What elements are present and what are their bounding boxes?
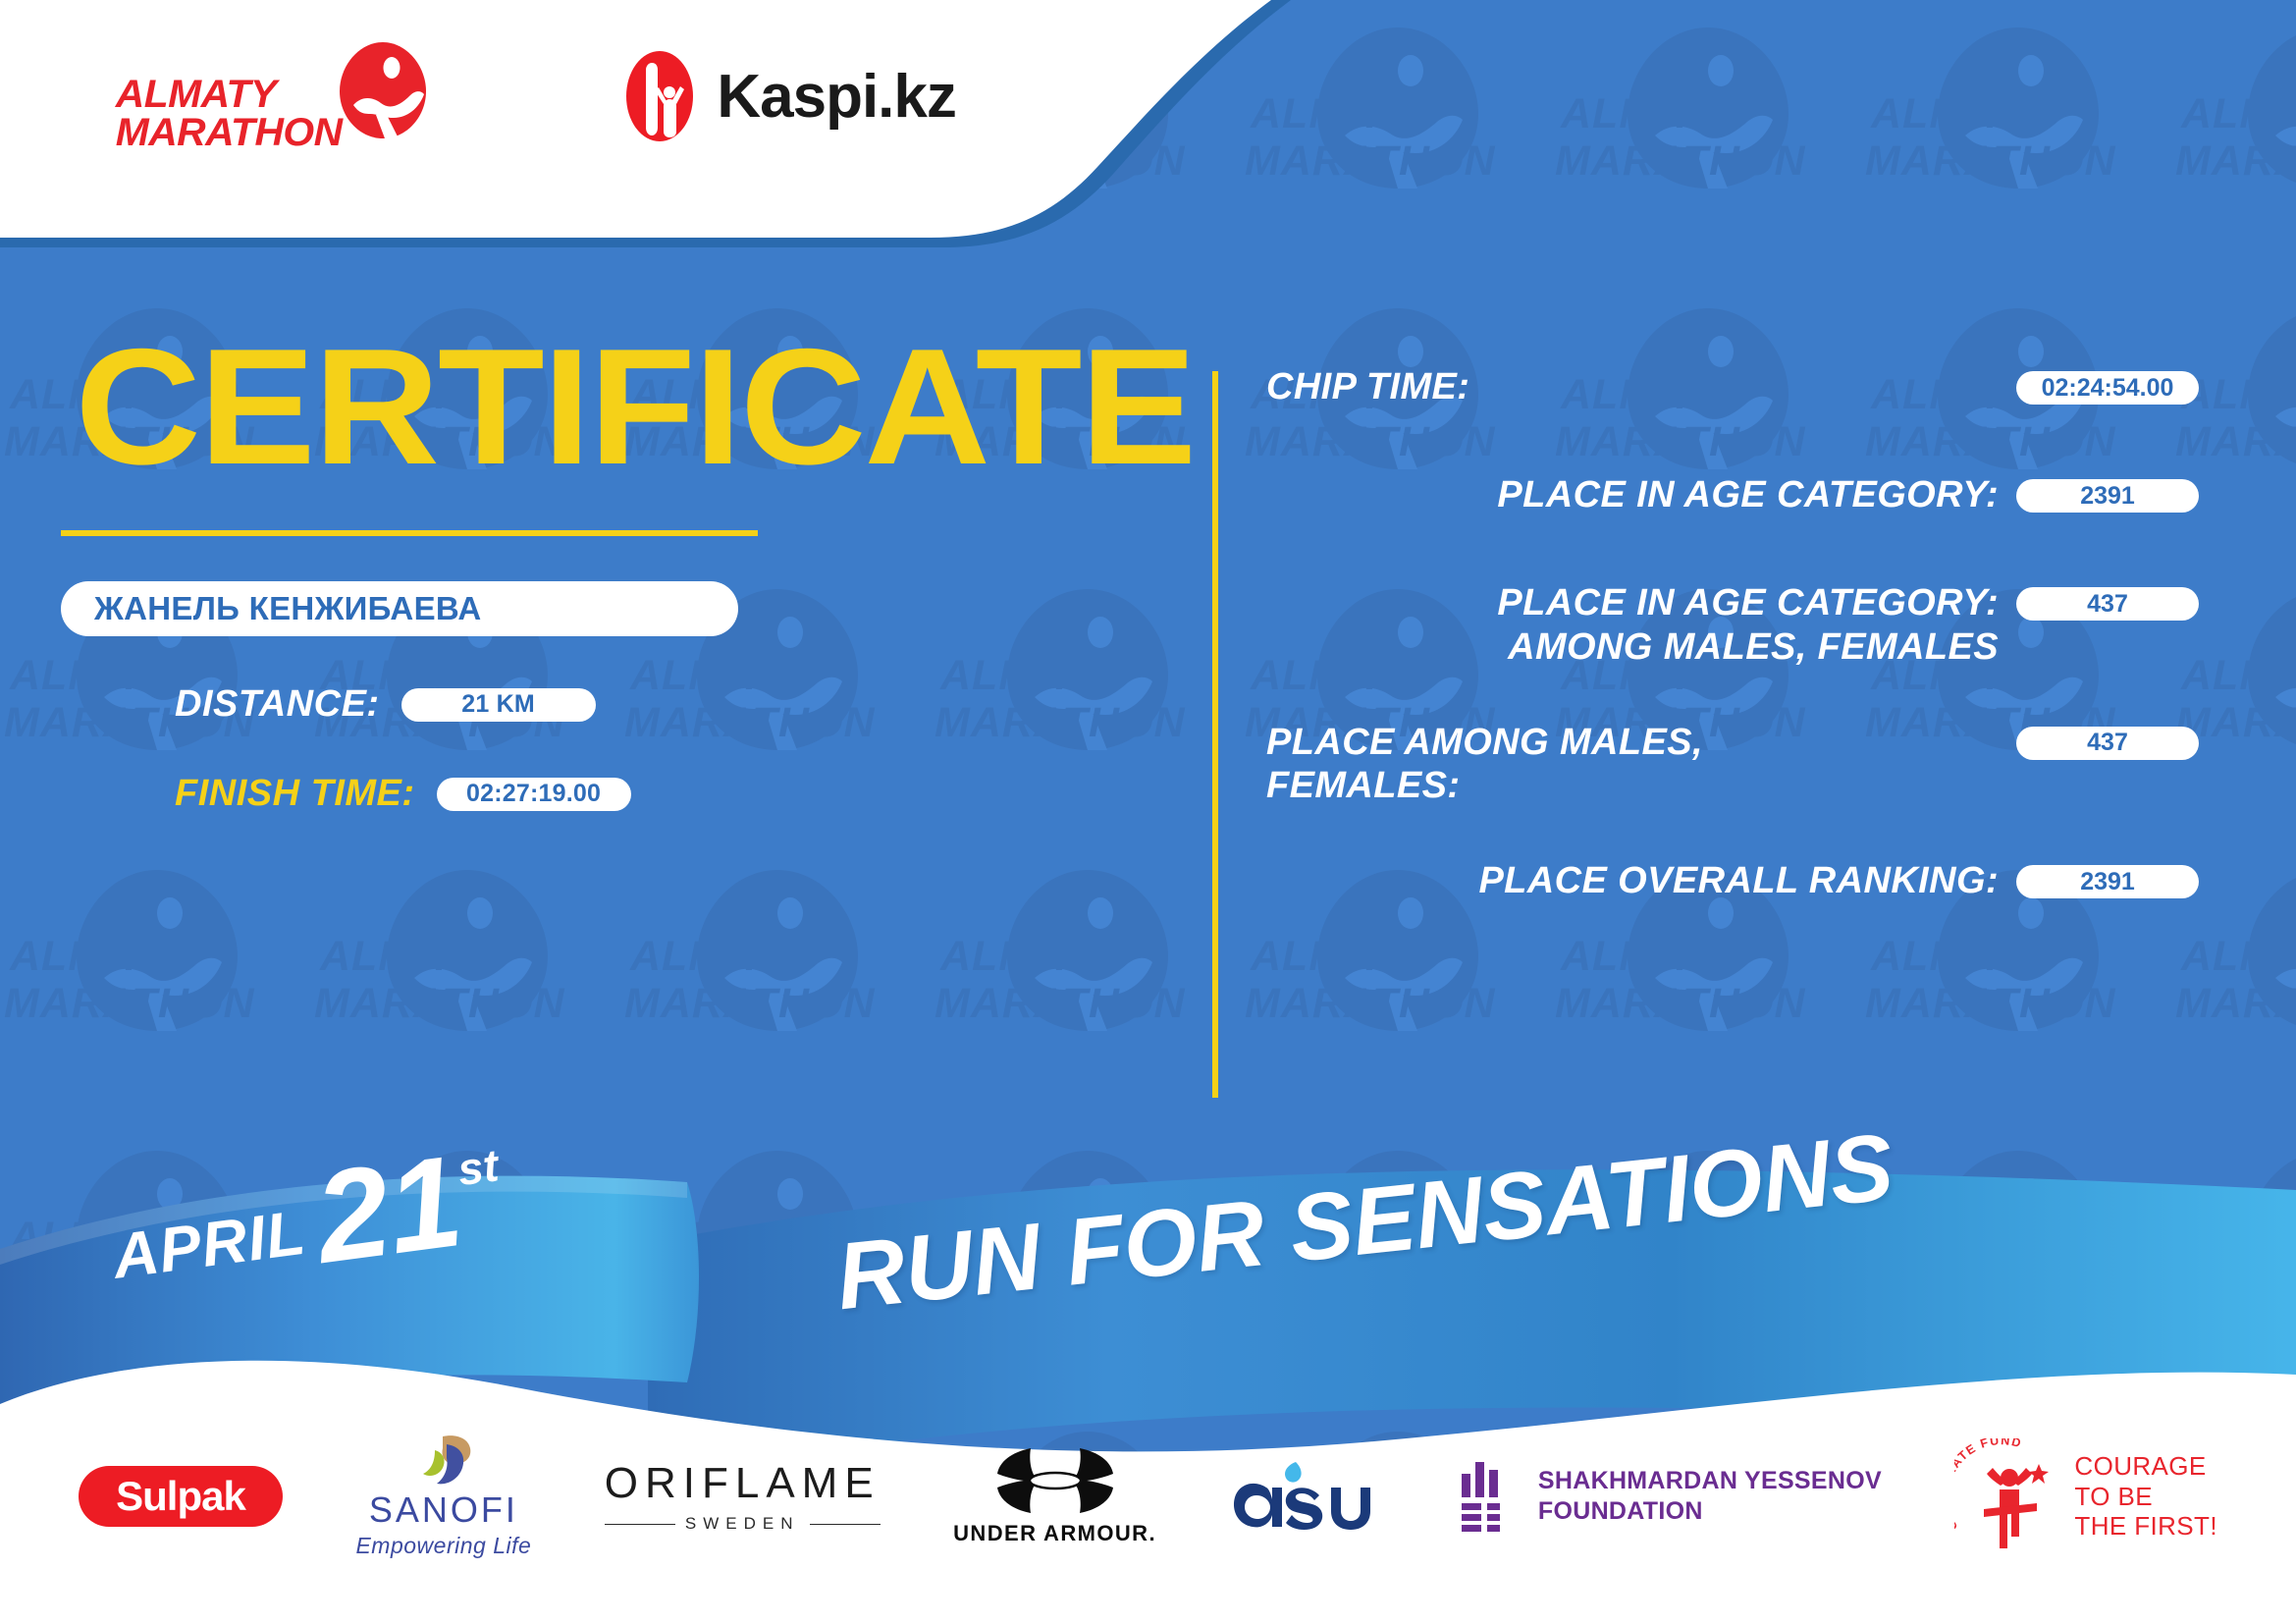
sanofi-bird-icon	[413, 1435, 474, 1488]
overall-ranking-value: 2391	[2080, 868, 2135, 896]
oriflame-subline: SWEDEN	[605, 1514, 881, 1534]
place-age-category-gender-label: PLACE IN AGE CATEGORY: AMONG MALES, FEMA…	[1266, 581, 2016, 670]
vertical-divider	[1212, 371, 1218, 1098]
place-among-gender-value-pill: 437	[2016, 727, 2199, 760]
stats-column: CHIP TIME: 02:24:54.00 PLACE IN AGE CATE…	[1266, 365, 2199, 916]
courage-runner-icon: CORPORATE FUND	[1954, 1438, 2060, 1554]
under-armour-wordmark: UNDER ARMOUR.	[953, 1521, 1156, 1546]
place-among-gender-value: 437	[2087, 729, 2128, 757]
distance-value: 21 KM	[461, 690, 535, 719]
sanofi-wordmark: SANOFI	[369, 1489, 518, 1531]
oriflame-rule-right	[810, 1524, 881, 1525]
page-title: CERTIFICATE	[0, 324, 1228, 489]
event-day: 21	[310, 1148, 467, 1272]
sponsor-oriflame: ORIFLAME SWEDEN	[605, 1459, 881, 1534]
yessenov-wordmark: SHAKHMARDAN YESSENOV FOUNDATION	[1538, 1466, 1882, 1528]
overall-ranking-value-pill: 2391	[2016, 865, 2199, 898]
label-line-1: PLACE AMONG MALES,	[1266, 721, 1999, 765]
finish-time-value: 02:27:19.00	[466, 780, 601, 808]
place-age-category-gender-value: 437	[2087, 590, 2128, 619]
sponsor-courage-to-be-first: CORPORATE FUND COURAGE TO BE THE FIRST!	[1954, 1438, 2217, 1554]
place-age-category-gender-value-pill: 437	[2016, 587, 2199, 621]
sponsor-bar: Sulpak SANOFI Empowering Life ORIFLAME S…	[0, 1398, 2296, 1624]
sponsor-sanofi: SANOFI Empowering Life	[355, 1435, 531, 1559]
event-day-suffix: st	[454, 1138, 502, 1196]
yessenov-bars-icon	[1460, 1460, 1517, 1533]
stat-row-overall-ranking: PLACE OVERALL RANKING: 2391	[1266, 859, 2199, 916]
stat-row-place-among-gender: PLACE AMONG MALES, FEMALES: 437	[1266, 721, 2199, 809]
sulpak-pill-logo: Sulpak	[79, 1466, 283, 1527]
sanofi-tagline: Empowering Life	[355, 1533, 531, 1559]
participant-name-field: ЖАНЕЛЬ КЕНЖИБАЕВА	[61, 581, 738, 636]
stat-row-chip-time: CHIP TIME: 02:24:54.00	[1266, 365, 2199, 422]
certificate-canvas: ALMATY MARATHON ALMATY MARATHON	[0, 0, 2296, 1624]
yessenov-line-1: SHAKHMARDAN YESSENOV	[1538, 1466, 1882, 1496]
courage-line-3: THE FIRST!	[2074, 1511, 2217, 1542]
stat-row-place-age-category: PLACE IN AGE CATEGORY: 2391	[1266, 473, 2199, 530]
label-line-2: FEMALES:	[1266, 764, 1999, 808]
overall-ranking-label: PLACE OVERALL RANKING:	[1266, 859, 2016, 903]
distance-label: DISTANCE:	[175, 683, 380, 726]
under-armour-icon	[991, 1446, 1119, 1515]
finish-time-label: FINISH TIME:	[175, 773, 415, 815]
yessenov-line-2: FOUNDATION	[1538, 1496, 1882, 1527]
distance-row: DISTANCE: 21 KM	[175, 683, 1158, 726]
sponsor-asu	[1229, 1454, 1386, 1539]
sponsor-under-armour: UNDER ARMOUR.	[953, 1446, 1156, 1546]
oriflame-subtext: SWEDEN	[685, 1514, 800, 1534]
participant-name-value: ЖАНЕЛЬ КЕНЖИБАЕВА	[94, 590, 482, 627]
oriflame-wordmark: ORIFLAME	[605, 1459, 881, 1508]
courage-line-2: TO BE	[2074, 1482, 2217, 1512]
courage-line-1: COURAGE	[2074, 1451, 2217, 1482]
sulpak-wordmark: Sulpak	[116, 1473, 245, 1520]
courage-wordmark: COURAGE TO BE THE FIRST!	[2074, 1451, 2217, 1542]
place-age-category-label: PLACE IN AGE CATEGORY:	[1266, 473, 2016, 517]
asu-wordmark	[1229, 1454, 1386, 1539]
place-among-gender-label: PLACE AMONG MALES, FEMALES:	[1266, 721, 2016, 809]
chip-time-label: CHIP TIME:	[1266, 365, 2016, 409]
label-line-2: AMONG MALES, FEMALES	[1266, 625, 1999, 670]
finish-time-value-pill: 02:27:19.00	[437, 778, 631, 811]
label-line-1: PLACE IN AGE CATEGORY:	[1266, 581, 1999, 625]
title-divider	[61, 530, 758, 536]
distance-value-pill: 21 KM	[401, 688, 596, 722]
chip-time-value-pill: 02:24:54.00	[2016, 371, 2199, 405]
place-age-category-value: 2391	[2080, 482, 2135, 511]
place-age-category-value-pill: 2391	[2016, 479, 2199, 513]
sponsor-yessenov-foundation: SHAKHMARDAN YESSENOV FOUNDATION	[1460, 1460, 1882, 1533]
chip-time-value: 02:24:54.00	[2042, 374, 2174, 403]
oriflame-rule-left	[605, 1524, 675, 1525]
sponsor-sulpak: Sulpak	[79, 1466, 283, 1527]
left-column: CERTIFICATE ЖАНЕЛЬ КЕНЖИБАЕВА DISTANCE: …	[0, 324, 1158, 815]
finish-time-row: FINISH TIME: 02:27:19.00	[175, 773, 1158, 815]
stat-row-place-age-category-gender: PLACE IN AGE CATEGORY: AMONG MALES, FEMA…	[1266, 581, 2199, 670]
